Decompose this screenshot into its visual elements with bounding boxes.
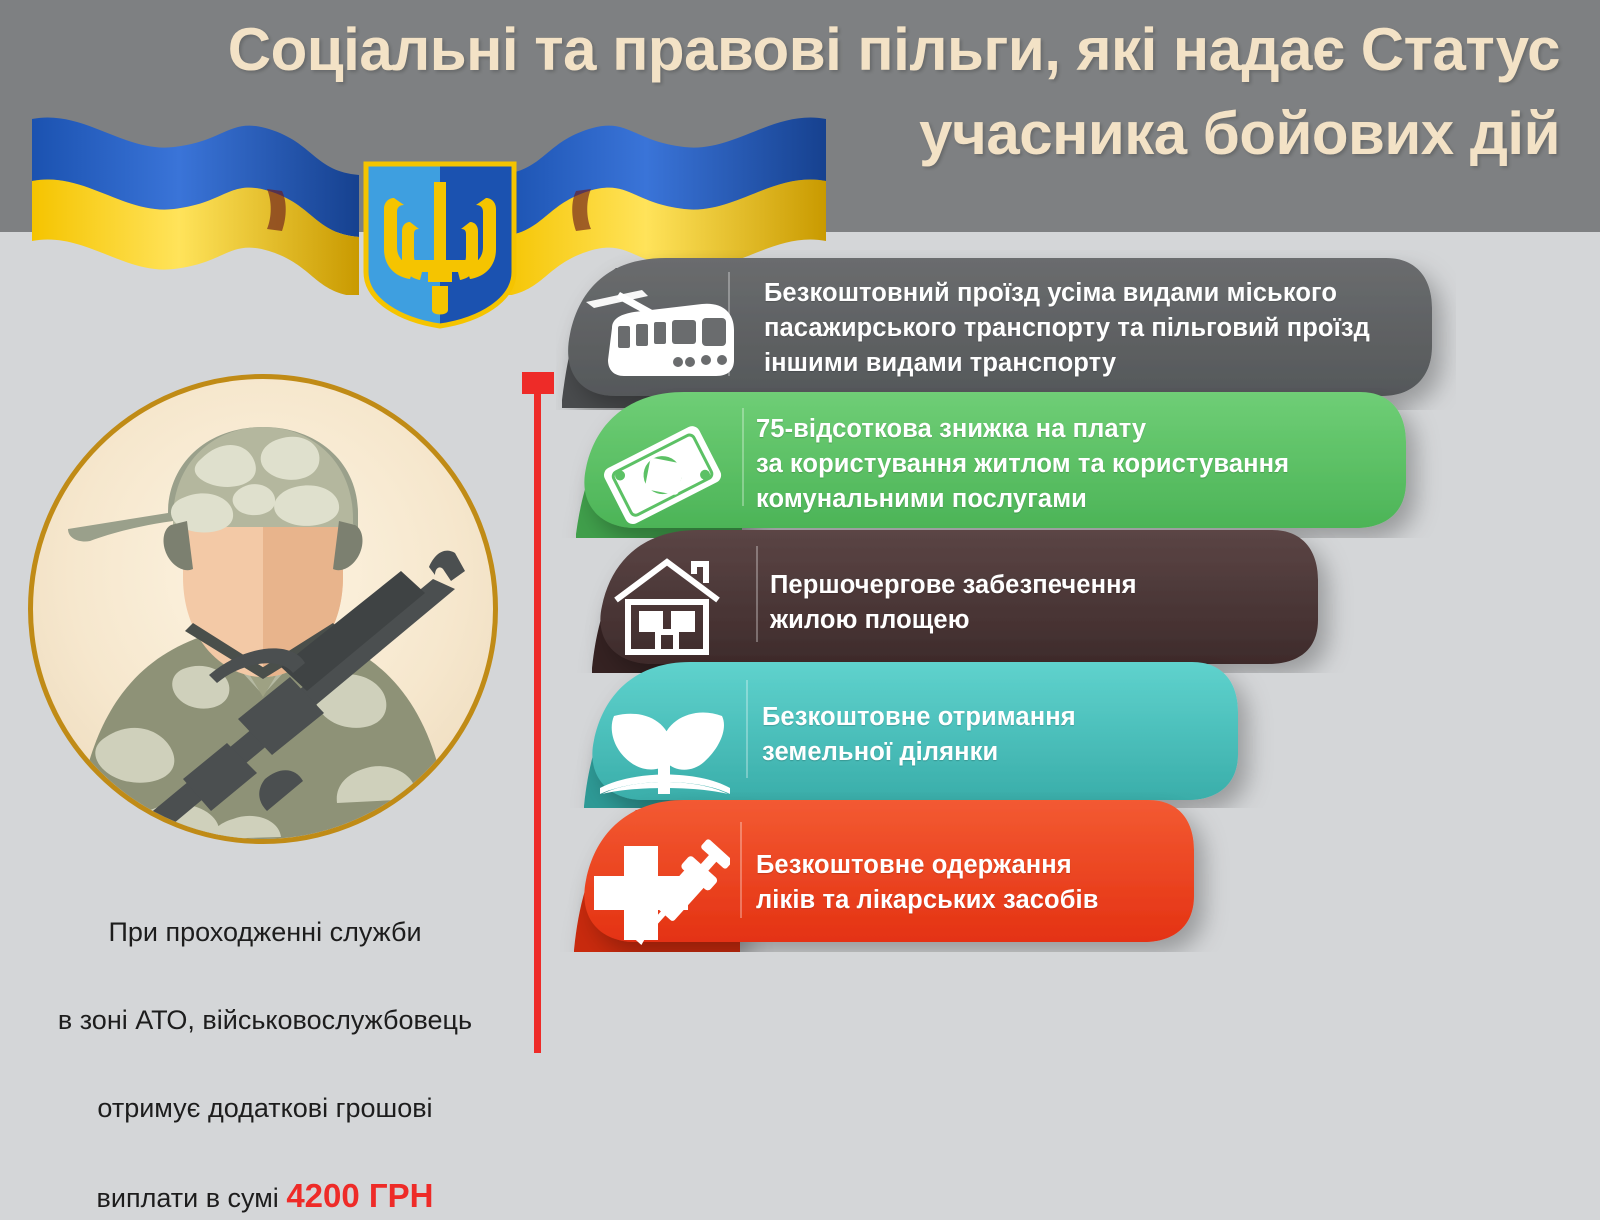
- footer-amount: 4200 ГРН: [286, 1177, 433, 1214]
- benefit-text: 75-відсоткова знижка на плату за користу…: [756, 412, 1446, 517]
- footer-note-line-3: отримує додаткові грошові: [97, 1093, 432, 1123]
- benefit-text: Безкоштовне одержання ліків та лікарськи…: [756, 848, 1186, 918]
- benefits-list: Безкоштовний проїзд усіма видами міськог…: [556, 250, 1600, 970]
- benefit-item-free-medicine[interactable]: Безкоштовне одержання ліків та лікарськи…: [556, 792, 1456, 952]
- benefit-item-free-land-plot[interactable]: Безкоштовне отримання земельної ділянки: [556, 656, 1456, 808]
- bar-divider: [756, 546, 758, 642]
- benefit-text: Першочергове забезпечення жилою площею: [770, 568, 1330, 638]
- timeline-line: [534, 388, 541, 1053]
- bar-divider: [746, 680, 748, 778]
- benefit-text: Безкоштовний проїзд усіма видами міськог…: [764, 276, 1464, 381]
- sprout-icon: [600, 690, 730, 802]
- benefit-item-free-public-transport[interactable]: Безкоштовний проїзд усіма видами міськог…: [556, 250, 1456, 410]
- medical-cross-syringe-icon: [590, 830, 730, 952]
- footer-note: При проходженні служби в зоні АТО, війсь…: [30, 866, 500, 1220]
- bar-divider: [728, 272, 730, 376]
- benefit-text: Безкоштовне отримання земельної ділянки: [762, 700, 1232, 770]
- bar-divider: [740, 822, 742, 918]
- house-icon: [612, 556, 722, 656]
- tram-icon: [582, 288, 742, 388]
- footer-note-line-1: При проходженні служби: [108, 917, 421, 947]
- ukraine-tryzub-coat-of-arms-icon: [360, 160, 520, 330]
- footer-note-line-2: в зоні АТО, військовослужбовець: [58, 1005, 472, 1035]
- banknote-icon: [598, 418, 728, 534]
- soldier-portrait-icon: [28, 374, 498, 844]
- benefit-item-housing-utilities-discount[interactable]: 75-відсоткова знижка на плату за користу…: [556, 388, 1456, 538]
- footer-note-line-4: виплати в сумі: [97, 1183, 287, 1213]
- bar-divider: [742, 408, 744, 506]
- benefit-item-priority-housing[interactable]: Першочергове забезпечення жилою площею: [556, 528, 1456, 673]
